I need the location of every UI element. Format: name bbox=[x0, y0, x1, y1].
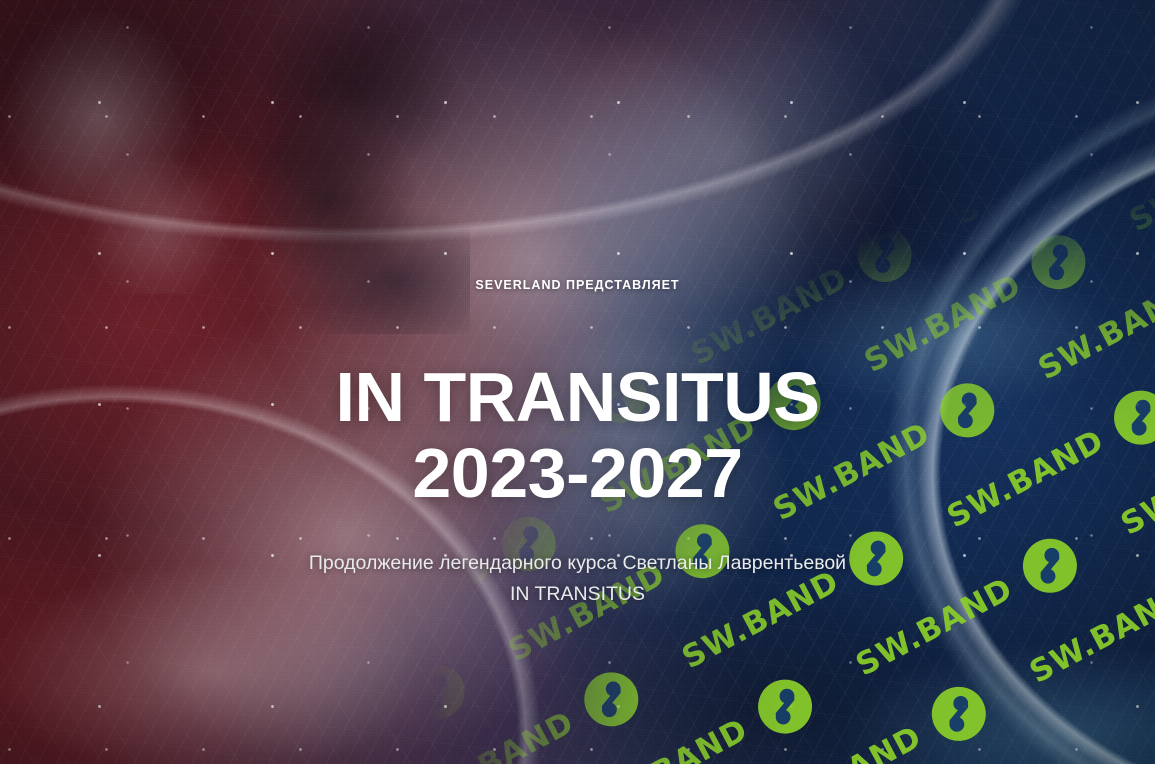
background-vignette bbox=[0, 0, 1155, 764]
hero-banner: SW.BAND SW.BAND SW.BAND SW.BAND SW.BAND … bbox=[0, 0, 1155, 764]
cosmic-nebula-background bbox=[0, 0, 1155, 764]
